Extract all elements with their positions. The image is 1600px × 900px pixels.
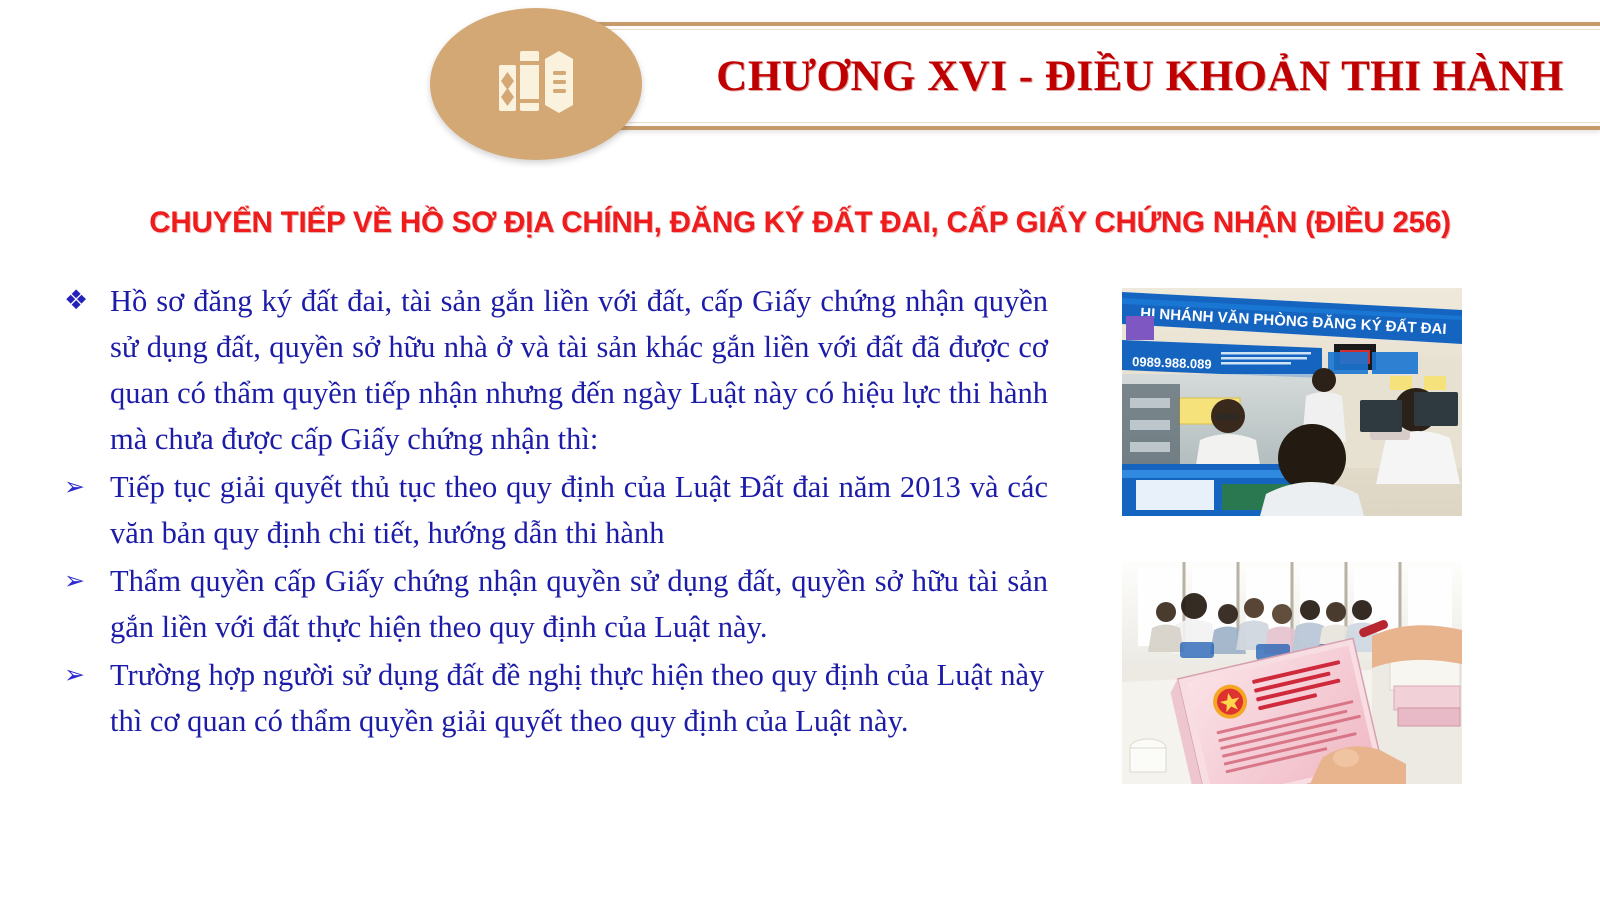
arrow-bullet-icon: ➢	[58, 652, 110, 698]
list-item: ➢ Thẩm quyền cấp Giấy chứng nhận quyền s…	[58, 558, 1048, 650]
list-item: ❖ Hồ sơ đăng ký đất đai, tài sản gắn liề…	[58, 278, 1048, 462]
content-body: ❖ Hồ sơ đăng ký đất đai, tài sản gắn liề…	[58, 278, 1048, 746]
header-banner-inner-frame: CHƯƠNG XVI - ĐIỀU KHOẢN THI HÀNH	[530, 29, 1600, 123]
page-title: CHƯƠNG XVI - ĐIỀU KHOẢN THI HÀNH	[530, 30, 1600, 122]
office-photo-graphic: HI NHÁNH VĂN PHÒNG ĐĂNG KÝ ĐẤT ĐAI 0989.…	[1122, 288, 1462, 516]
section-subtitle: CHUYỂN TIẾP VỀ HỒ SƠ ĐỊA CHÍNH, ĐĂNG KÝ …	[0, 206, 1600, 240]
diamond-bullet-icon: ❖	[58, 278, 110, 324]
books-on-shelf-icon	[497, 47, 575, 121]
land-use-certificate-photo	[1122, 562, 1462, 784]
svg-text:0989.988.089: 0989.988.089	[1132, 354, 1212, 372]
arrow-bullet-icon: ➢	[58, 558, 110, 604]
list-item-text: Tiếp tục giải quyết thủ tục theo quy địn…	[110, 464, 1048, 556]
list-item-text: Hồ sơ đăng ký đất đai, tài sản gắn liền …	[110, 278, 1048, 462]
certificate-photo-graphic	[1122, 562, 1462, 784]
list-item-text: Trường hợp người sử dụng đất đề nghị thự…	[110, 652, 1048, 744]
header-badge-oval	[430, 8, 642, 160]
list-item-text: Thẩm quyền cấp Giấy chứng nhận quyền sử …	[110, 558, 1048, 650]
land-registration-office-photo: HI NHÁNH VĂN PHÒNG ĐĂNG KÝ ĐẤT ĐAI 0989.…	[1122, 288, 1462, 516]
list-item: ➢ Trường hợp người sử dụng đất đề nghị t…	[58, 652, 1048, 744]
arrow-bullet-icon: ➢	[58, 464, 110, 510]
header-banner: CHƯƠNG XVI - ĐIỀU KHOẢN THI HÀNH	[530, 22, 1600, 130]
list-item: ➢ Tiếp tục giải quyết thủ tục theo quy đ…	[58, 464, 1048, 556]
